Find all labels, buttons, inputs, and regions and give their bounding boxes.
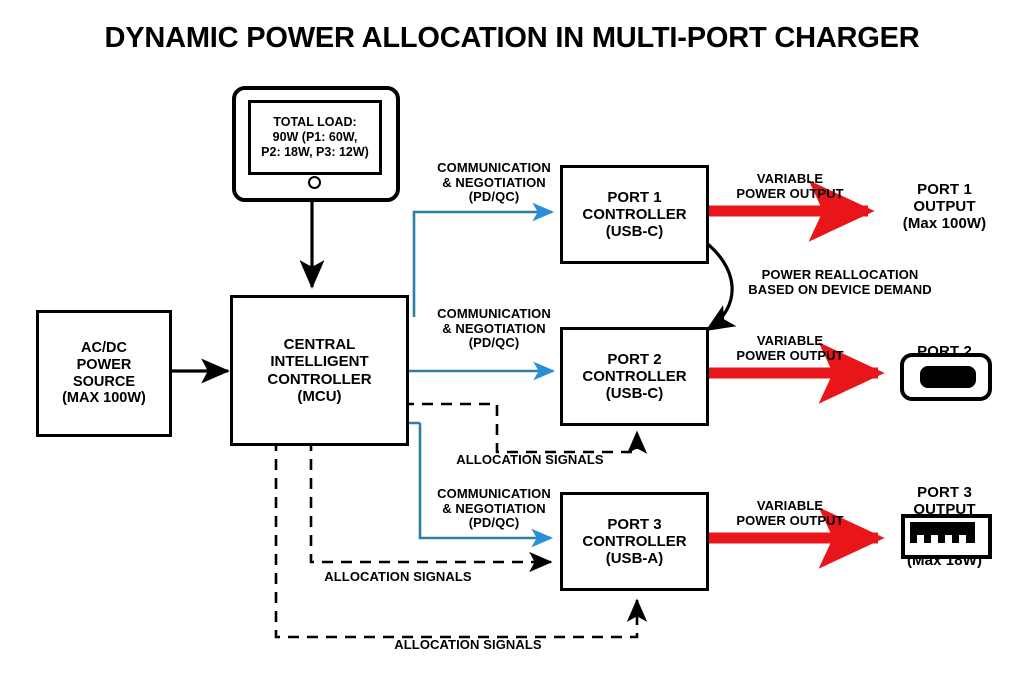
alloc2-text: ALLOCATION SIGNALS xyxy=(268,570,528,585)
pwr1-line2: POWER OUTPUT xyxy=(710,187,870,202)
port3-ctrl-line2: CONTROLLER xyxy=(582,533,686,550)
central-intelligent-controller-box: CENTRAL INTELLIGENT CONTROLLER (MCU) xyxy=(230,295,409,446)
comm1-line3: (PD/QC) xyxy=(404,190,584,205)
power-label-port2: VARIABLE POWER OUTPUT xyxy=(710,334,870,363)
power-reallocation-label: POWER REALLOCATION BASED ON DEVICE DEMAN… xyxy=(735,268,945,297)
mcu-line2: INTELLIGENT xyxy=(267,353,371,370)
comm2-line2: & NEGOTIATION xyxy=(404,322,584,337)
port3-ctrl-line1: PORT 3 xyxy=(582,516,686,533)
source-line3: SOURCE xyxy=(62,374,146,391)
pwr2-line2: POWER OUTPUT xyxy=(710,349,870,364)
usb-a-icon xyxy=(901,514,992,559)
usb-a-icon-bar xyxy=(910,522,975,543)
port2-ctrl-line2: CONTROLLER xyxy=(582,368,686,385)
out1-line3: (Max 100W) xyxy=(872,216,1017,233)
out1-line1: PORT 1 xyxy=(872,182,1017,199)
usb-a-tooth xyxy=(917,535,924,543)
total-load-display: TOTAL LOAD: 90W (P1: 60W, P2: 18W, P3: 1… xyxy=(232,86,400,202)
total-load-line3: P2: 18W, P3: 12W) xyxy=(261,145,369,160)
mcu-line4: (MCU) xyxy=(267,388,371,405)
comm3-line2: & NEGOTIATION xyxy=(404,502,584,517)
power-label-port3: VARIABLE POWER OUTPUT xyxy=(710,499,870,528)
comm3-line1: COMMUNICATION xyxy=(404,487,584,502)
out3-line1: PORT 3 xyxy=(872,485,1017,502)
pwr3-line2: POWER OUTPUT xyxy=(710,514,870,529)
comm1-line2: & NEGOTIATION xyxy=(404,176,584,191)
usb-a-tooth xyxy=(945,535,952,543)
comm-label-port2: COMMUNICATION & NEGOTIATION (PD/QC) xyxy=(404,307,584,351)
alloc-label-port3-bottom: ALLOCATION SIGNALS xyxy=(318,638,618,653)
power-label-port1: VARIABLE POWER OUTPUT xyxy=(710,172,870,201)
comm1-line1: COMMUNICATION xyxy=(404,161,584,176)
total-load-screen: TOTAL LOAD: 90W (P1: 60W, P2: 18W, P3: 1… xyxy=(248,100,382,175)
ac-dc-power-source-box: AC/DC POWER SOURCE (MAX 100W) xyxy=(36,310,172,437)
source-line2: POWER xyxy=(62,357,146,374)
comm3-line3: (PD/QC) xyxy=(404,516,584,531)
port3-ctrl-line3: (USB-A) xyxy=(582,550,686,567)
port1-ctrl-line2: CONTROLLER xyxy=(582,206,686,223)
comm2-line3: (PD/QC) xyxy=(404,336,584,351)
mcu-line1: CENTRAL xyxy=(267,336,371,353)
realloc-line2: BASED ON DEVICE DEMAND xyxy=(735,283,945,298)
pwr2-line1: VARIABLE xyxy=(710,334,870,349)
port-1-output-label: PORT 1 OUTPUT (Max 100W) xyxy=(872,182,1017,232)
mcu-line3: CONTROLLER xyxy=(267,371,371,388)
usb-a-tooth xyxy=(959,535,966,543)
port1-ctrl-line3: (USB-C) xyxy=(582,223,686,240)
usb-a-tooth xyxy=(931,535,938,543)
pwr1-line1: VARIABLE xyxy=(710,172,870,187)
alloc-label-port3-left: ALLOCATION SIGNALS xyxy=(268,570,528,585)
home-button-icon xyxy=(308,176,321,189)
port2-ctrl-line3: (USB-C) xyxy=(582,385,686,402)
comm-line-port1 xyxy=(414,212,552,317)
port1-ctrl-line1: PORT 1 xyxy=(582,189,686,206)
source-line4: (MAX 100W) xyxy=(62,390,146,407)
source-line1: AC/DC xyxy=(62,340,146,357)
pwr3-line1: VARIABLE xyxy=(710,499,870,514)
alloc3-text: ALLOCATION SIGNALS xyxy=(318,638,618,653)
usb-c-icon-slot xyxy=(920,366,976,388)
port2-ctrl-line1: PORT 2 xyxy=(582,351,686,368)
alloc-label-port2: ALLOCATION SIGNALS xyxy=(440,453,620,468)
diagram-canvas: DYNAMIC POWER ALLOCATION IN MULTI-PORT C… xyxy=(0,0,1024,687)
total-load-line1: TOTAL LOAD: xyxy=(261,115,369,130)
total-load-line2: 90W (P1: 60W, xyxy=(261,130,369,145)
alloc1-text: ALLOCATION SIGNALS xyxy=(440,453,620,468)
comm-label-port1: COMMUNICATION & NEGOTIATION (PD/QC) xyxy=(404,161,584,205)
realloc-line1: POWER REALLOCATION xyxy=(735,268,945,283)
comm-label-port3: COMMUNICATION & NEGOTIATION (PD/QC) xyxy=(404,487,584,531)
usb-c-icon xyxy=(900,353,992,401)
out1-line2: OUTPUT xyxy=(872,199,1017,216)
comm2-line1: COMMUNICATION xyxy=(404,307,584,322)
